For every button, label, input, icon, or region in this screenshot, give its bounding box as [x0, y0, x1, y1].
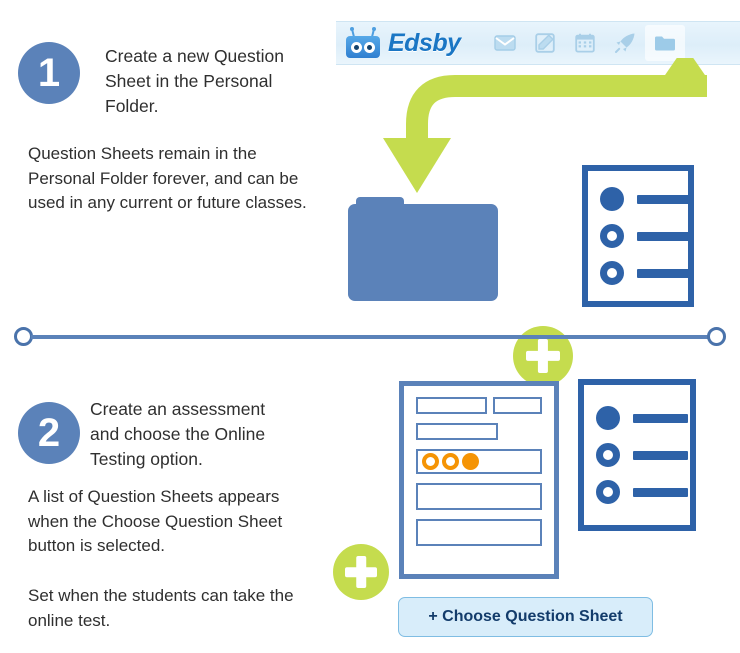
edsby-toolbar[interactable]: Edsby — [336, 21, 740, 65]
question-line — [633, 488, 688, 497]
form-row-choices — [416, 449, 542, 474]
divider-dot-right — [707, 327, 726, 346]
assessment-form — [399, 381, 559, 579]
choice-dot-hollow-icon[interactable] — [442, 453, 459, 470]
rocket-icon[interactable] — [605, 25, 645, 61]
form-row — [416, 397, 542, 414]
question-sheet-row — [596, 443, 678, 467]
step-1-paragraph-1: Question Sheets remain in the Personal F… — [28, 142, 318, 216]
question-line — [637, 232, 689, 241]
form-row — [416, 519, 542, 546]
step-1-badge: 1 — [18, 42, 80, 104]
form-field[interactable] — [416, 423, 498, 440]
question-line — [633, 451, 688, 460]
question-bullet-filled-icon — [600, 187, 624, 211]
robot-pupil-left-icon — [354, 45, 359, 50]
edsby-robot-logo — [346, 28, 380, 58]
form-field[interactable] — [416, 397, 487, 414]
question-bullet-hollow-icon — [596, 443, 620, 467]
folder-icon[interactable] — [645, 25, 685, 61]
step-2-badge: 2 — [18, 402, 80, 464]
question-sheet-row — [600, 187, 676, 211]
form-field[interactable] — [416, 483, 542, 510]
edsby-wordmark: Edsby — [388, 29, 461, 58]
form-field[interactable] — [416, 519, 542, 546]
choice-dot-selected-icon[interactable] — [462, 453, 479, 470]
calendar-icon[interactable] — [565, 25, 605, 61]
question-bullet-hollow-icon — [600, 261, 624, 285]
question-bullet-filled-icon — [596, 406, 620, 430]
toolbar-icon-group — [485, 25, 685, 61]
robot-antenna-tip-left-icon — [350, 27, 354, 31]
mail-icon[interactable] — [485, 25, 525, 61]
choose-question-sheet-label: + Choose Question Sheet — [428, 608, 622, 626]
question-sheet-document — [578, 379, 696, 531]
question-line — [637, 269, 689, 278]
question-sheet-row — [596, 406, 678, 430]
step-2-number: 2 — [18, 402, 80, 464]
form-field[interactable] — [493, 397, 542, 414]
robot-antenna-tip-right-icon — [372, 27, 376, 31]
step-2-headline: Create an assessment and choose the Onli… — [90, 397, 290, 472]
step-2-paragraph-2: Set when the students can take the onlin… — [28, 584, 323, 633]
question-sheet-document — [582, 165, 694, 307]
form-row — [416, 483, 542, 510]
robot-pupil-right-icon — [367, 45, 372, 50]
question-sheet-row — [596, 480, 678, 504]
question-sheet-row — [600, 261, 676, 285]
section-divider — [14, 327, 726, 347]
question-line — [637, 195, 689, 204]
compose-icon[interactable] — [525, 25, 565, 61]
question-bullet-hollow-icon — [596, 480, 620, 504]
personal-folder — [348, 197, 498, 301]
step-1-headline: Create a new Question Sheet in the Perso… — [105, 44, 305, 119]
form-field-online-testing[interactable] — [416, 449, 542, 474]
divider-line — [31, 335, 709, 339]
question-sheet-row — [600, 224, 676, 248]
folder-body — [348, 204, 498, 301]
form-row — [416, 423, 542, 440]
question-bullet-hollow-icon — [600, 224, 624, 248]
step-1-number: 1 — [18, 42, 80, 104]
choice-dot-hollow-icon[interactable] — [422, 453, 439, 470]
question-line — [633, 414, 688, 423]
choose-question-sheet-button[interactable]: + Choose Question Sheet — [398, 597, 653, 637]
add-plus-circle[interactable] — [333, 544, 389, 600]
step-2-paragraph-1: A list of Question Sheets appears when t… — [28, 485, 323, 559]
